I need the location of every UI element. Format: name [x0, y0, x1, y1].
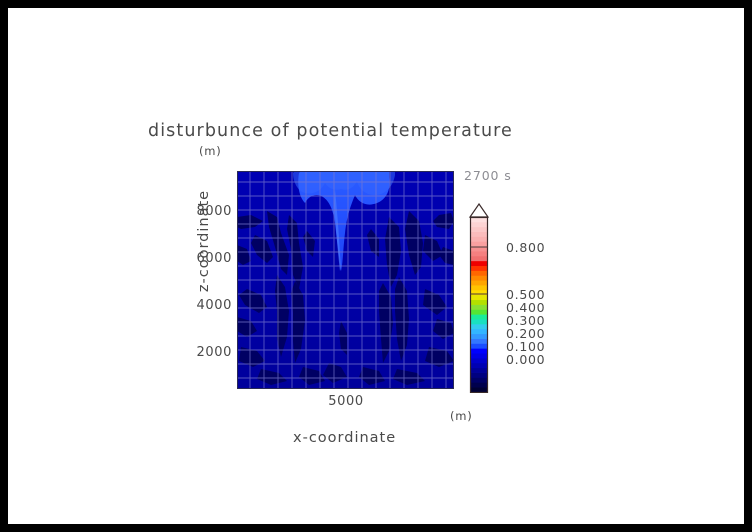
colorbar-band: [471, 280, 487, 285]
colorbar-band: [471, 251, 487, 256]
colorbar-band: [471, 256, 487, 261]
colorbar-band: [471, 285, 487, 290]
colorbar-band: [471, 266, 487, 271]
colorbar-label-0000: 0.000: [506, 352, 545, 367]
colorbar-band: [471, 305, 487, 310]
colorbar-band: [471, 295, 487, 300]
yaxis-unit-label: (m): [199, 144, 222, 158]
colorbar-label-0800: 0.800: [506, 240, 545, 255]
time-stamp-label: 2700 s: [464, 168, 512, 183]
colorbar-band: [471, 368, 487, 373]
colorbar-band: [471, 329, 487, 334]
colorbar-band: [471, 334, 487, 339]
colorbar-band: [471, 227, 487, 232]
colorbar-band: [471, 232, 487, 237]
colorbar-band: [471, 387, 487, 392]
colorbar-band: [471, 358, 487, 363]
figure-canvas: disturbunce of potential temperature (m)…: [8, 8, 744, 524]
colorbar-band: [471, 373, 487, 378]
colorbar-extend-arrow: [470, 204, 488, 217]
colorbar-band: [471, 300, 487, 305]
colorbar-band: [471, 348, 487, 353]
colorbar-band: [471, 261, 487, 266]
image-frame: disturbunce of potential temperature (m)…: [0, 0, 752, 532]
colorbar-band: [471, 339, 487, 344]
yaxis-title: z-coordinate: [196, 176, 212, 306]
colorbar-band: [471, 241, 487, 246]
ytick-label-2000: 2000: [186, 345, 232, 360]
colorbar-band: [471, 309, 487, 314]
xaxis-title: x-coordinate: [293, 430, 396, 446]
colorbar-band: [471, 236, 487, 241]
colorbar-band: [471, 377, 487, 382]
colorbar-band: [471, 319, 487, 324]
contour-plot: [237, 171, 454, 389]
colorbar-band: [471, 275, 487, 280]
page-title: disturbunce of potential temperature: [148, 121, 568, 141]
colorbar: [468, 203, 490, 393]
colorbar-band: [471, 324, 487, 329]
colorbar-band: [471, 353, 487, 358]
colorbar-band: [471, 314, 487, 319]
xaxis-unit-label: (m): [450, 409, 473, 423]
colorbar-band: [471, 343, 487, 348]
colorbar-band: [471, 270, 487, 275]
colorbar-band: [471, 363, 487, 368]
colorbar-band: [471, 222, 487, 227]
colorbar-band: [471, 382, 487, 387]
xtick-label-5000: 5000: [316, 394, 376, 409]
